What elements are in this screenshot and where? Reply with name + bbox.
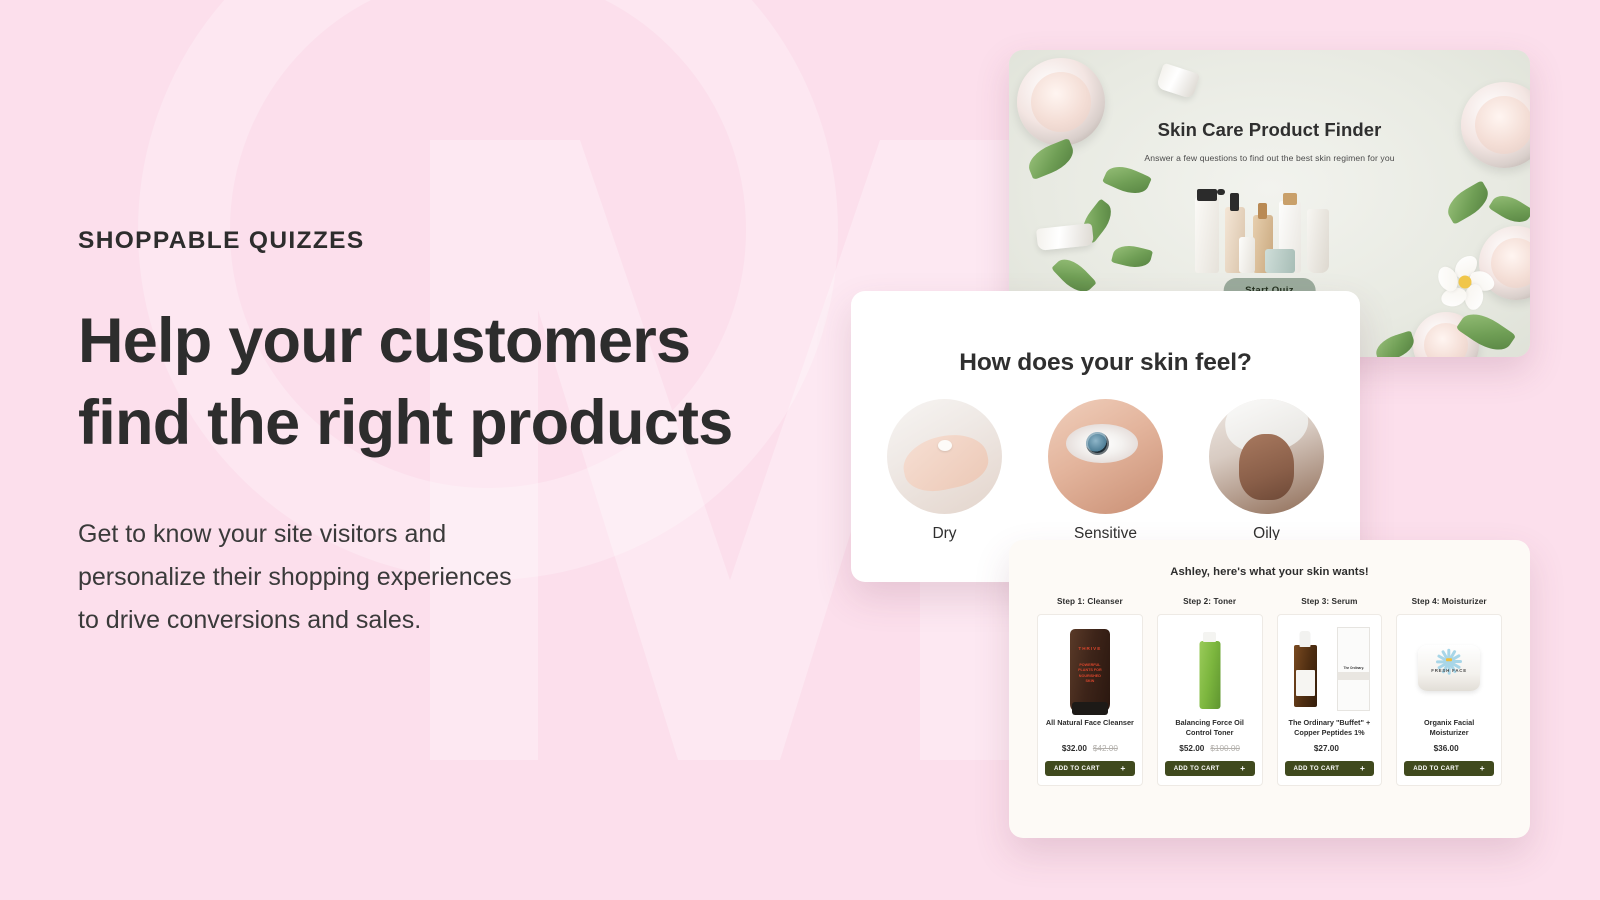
description-line-3: to drive conversions and sales. — [78, 606, 421, 634]
product-image: The Ordinary. — [1285, 623, 1375, 710]
product-card[interactable]: FRESH FACE Organix Facial Moisturizer $3… — [1396, 614, 1502, 786]
quiz-option-dry[interactable]: Dry — [887, 399, 1002, 543]
product-column: Step 1: Cleanser THRIVE POWERFUL PLANTS … — [1037, 597, 1143, 786]
description-line-1: Get to know your site visitors and — [78, 520, 446, 548]
product-tagline-label: POWERFUL PLANTS FOR NOURISHED SKIN — [1075, 663, 1105, 684]
add-to-cart-button[interactable]: ADD TO CART + — [1285, 761, 1375, 776]
product-price-row: $52.00 $100.00 — [1179, 744, 1240, 753]
moisturizer-jar-icon: FRESH FACE — [1418, 645, 1480, 691]
add-to-cart-label: ADD TO CART — [1413, 765, 1459, 772]
add-to-cart-button[interactable]: ADD TO CART + — [1045, 761, 1135, 776]
product-image — [1165, 623, 1255, 710]
product-step-label: Step 2: Toner — [1157, 597, 1263, 606]
add-to-cart-button[interactable]: ADD TO CART + — [1404, 761, 1494, 776]
product-image: THRIVE POWERFUL PLANTS FOR NOURISHED SKI… — [1045, 623, 1135, 710]
hero-copy-block: SHOPPABLE QUIZZES Help your customers fi… — [78, 228, 838, 642]
product-brand-label: The Ordinary. — [1341, 666, 1366, 670]
add-to-cart-label: ADD TO CART — [1054, 765, 1100, 772]
product-price: $32.00 — [1062, 744, 1087, 753]
bottle-label-icon — [1296, 670, 1315, 696]
product-column: Step 4: Moisturizer FRESH FACE — [1396, 597, 1502, 786]
results-title: Ashley, here's what your skin wants! — [1009, 566, 1530, 578]
product-price-row: $32.00 $42.00 — [1062, 744, 1118, 753]
plus-icon: + — [1480, 764, 1485, 773]
plus-icon: + — [1360, 764, 1365, 773]
quiz-subtitle: Answer a few questions to find out the b… — [1144, 153, 1394, 163]
question-title: How does your skin feel? — [851, 349, 1360, 377]
product-compare-price: $42.00 — [1093, 744, 1118, 753]
quiz-question-card: How does your skin feel? Dry Sensitive O… — [851, 291, 1360, 582]
serum-box-icon: The Ordinary. — [1337, 627, 1370, 711]
quiz-results-card: Ashley, here's what your skin wants! Ste… — [1009, 540, 1530, 838]
dropper-cap-icon — [1300, 631, 1311, 647]
product-image: FRESH FACE — [1404, 623, 1494, 710]
quiz-title: Skin Care Product Finder — [1158, 119, 1382, 141]
dry-skin-photo-icon — [887, 399, 1002, 514]
quiz-option-sensitive[interactable]: Sensitive — [1048, 399, 1163, 543]
question-options-list: Dry Sensitive Oily — [851, 399, 1360, 543]
product-name: Organix Facial Moisturizer — [1404, 718, 1494, 737]
add-to-cart-label: ADD TO CART — [1294, 765, 1340, 772]
product-brand-label: THRIVE — [1070, 646, 1110, 651]
headline-line-1: Help your customers — [78, 306, 690, 376]
product-price-row: $27.00 — [1314, 744, 1345, 753]
product-card[interactable]: The Ordinary. The Ordinary "Buffet" + Co… — [1277, 614, 1383, 786]
bottle-cap-icon — [1203, 632, 1216, 642]
product-column: Step 3: Serum The Ordinary. The Ordinary… — [1277, 597, 1383, 786]
product-price-row: $36.00 — [1434, 744, 1465, 753]
product-name: The Ordinary "Buffet" + Copper Peptides … — [1285, 718, 1375, 737]
hero-description: Get to know your site visitors and perso… — [78, 513, 838, 642]
product-compare-price: $100.00 — [1210, 744, 1240, 753]
product-name: All Natural Face Cleanser — [1046, 718, 1134, 737]
product-price: $52.00 — [1179, 744, 1204, 753]
quiz-option-oily[interactable]: Oily — [1209, 399, 1324, 543]
box-band-icon — [1338, 672, 1369, 680]
recommended-products-grid: Step 1: Cleanser THRIVE POWERFUL PLANTS … — [1009, 597, 1530, 786]
headline-line-2: find the right products — [78, 388, 733, 458]
sensitive-skin-photo-icon — [1048, 399, 1163, 514]
plus-icon: + — [1240, 764, 1245, 773]
daisy-logo-icon — [1433, 652, 1465, 668]
tube-cap-icon — [1072, 702, 1108, 715]
page-title: Help your customers find the right produ… — [78, 301, 838, 465]
product-card[interactable]: THRIVE POWERFUL PLANTS FOR NOURISHED SKI… — [1037, 614, 1143, 786]
option-label: Dry — [887, 525, 1002, 543]
serum-dropper-bottle-icon — [1294, 645, 1317, 707]
product-step-label: Step 1: Cleanser — [1037, 597, 1143, 606]
product-name: Balancing Force Oil Control Toner — [1165, 718, 1255, 737]
product-step-label: Step 4: Moisturizer — [1396, 597, 1502, 606]
description-line-2: personalize their shopping experiences — [78, 563, 512, 591]
product-column: Step 2: Toner Balancing Force Oil Contro… — [1157, 597, 1263, 786]
product-lineup-image — [1195, 179, 1345, 273]
product-price: $36.00 — [1434, 744, 1459, 753]
cleanser-tube-icon: THRIVE POWERFUL PLANTS FOR NOURISHED SKI… — [1070, 629, 1110, 713]
product-step-label: Step 3: Serum — [1277, 597, 1383, 606]
add-to-cart-button[interactable]: ADD TO CART + — [1165, 761, 1255, 776]
plus-icon: + — [1120, 764, 1125, 773]
product-brand-label: FRESH FACE — [1418, 668, 1480, 673]
product-price: $27.00 — [1314, 744, 1339, 753]
eyebrow-label: SHOPPABLE QUIZZES — [78, 228, 838, 255]
product-card[interactable]: Balancing Force Oil Control Toner $52.00… — [1157, 614, 1263, 786]
toner-bottle-icon — [1199, 641, 1220, 709]
add-to-cart-label: ADD TO CART — [1174, 765, 1220, 772]
oily-skin-photo-icon — [1209, 399, 1324, 514]
